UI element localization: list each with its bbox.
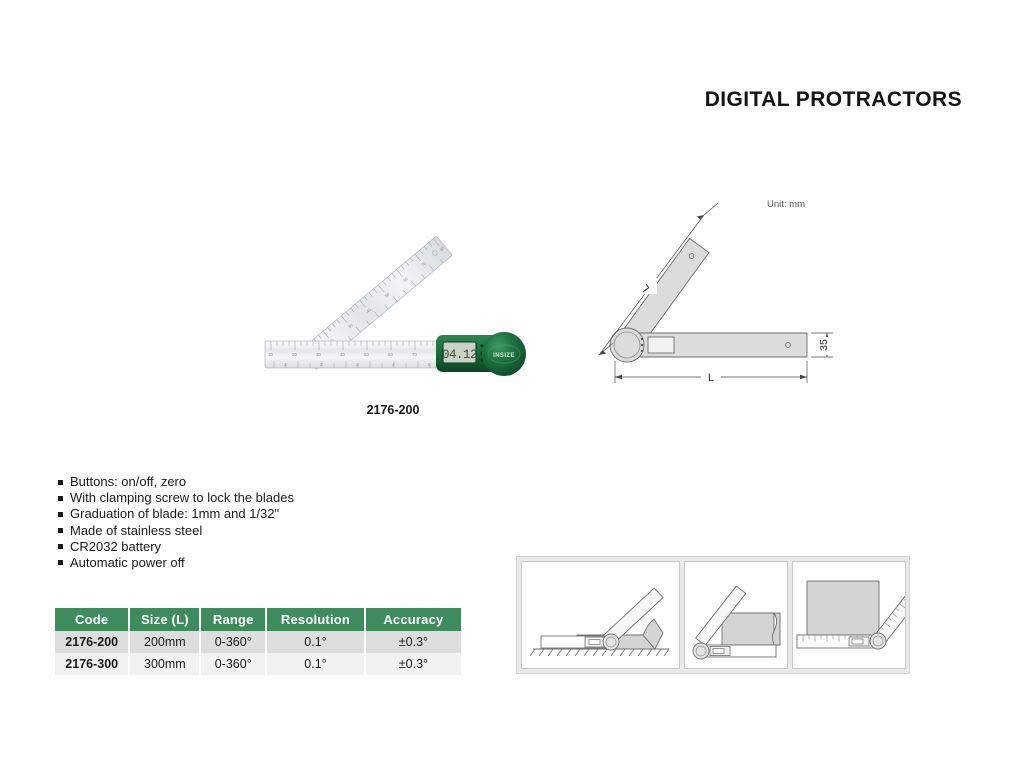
svg-text:20: 20 — [292, 352, 297, 357]
cell-accuracy: ±0.3° — [365, 653, 461, 675]
horizontal-blade: 102030 405060 7080 123 45 — [265, 341, 465, 368]
lcd-display-value: 04.12 — [442, 348, 477, 362]
cell-range: 0-360° — [200, 631, 266, 653]
table-row: 2176-300 300mm 0-360° 0.1° ±0.3° — [55, 653, 461, 675]
svg-text:10: 10 — [268, 352, 273, 357]
bullet-square-icon — [58, 528, 63, 533]
feature-item: Buttons: on/off, zero — [58, 474, 478, 490]
feature-item: Automatic power off — [58, 555, 478, 571]
column-header-range: Range — [200, 608, 266, 631]
feature-text: Made of stainless steel — [70, 523, 202, 539]
application-panel-3 — [792, 561, 906, 669]
svg-text:70: 70 — [412, 352, 417, 357]
cell-size: 200mm — [129, 631, 200, 653]
feature-item: CR2032 battery — [58, 539, 478, 555]
feature-text: Graduation of blade: 1mm and 1/32" — [70, 506, 279, 522]
bullet-square-icon — [58, 544, 63, 549]
table-row: 2176-200 200mm 0-360° 0.1° ±0.3° — [55, 631, 461, 653]
svg-text:50: 50 — [364, 352, 369, 357]
column-header-code: Code — [55, 608, 129, 631]
dimension-label-35: 35 — [818, 339, 830, 351]
svg-text:30: 30 — [316, 352, 321, 357]
bullet-square-icon — [58, 480, 63, 485]
cell-range: 0-360° — [200, 653, 266, 675]
specification-table: Code Size (L) Range Resolution Accuracy … — [55, 608, 461, 675]
clamping-knob: INSIZE — [482, 332, 526, 376]
application-illustrations — [516, 556, 910, 674]
dimension-label-L-horizontal: L — [708, 372, 714, 384]
cell-code: 2176-200 — [55, 631, 129, 653]
column-header-resolution: Resolution — [266, 608, 365, 631]
feature-text: Buttons: on/off, zero — [70, 474, 186, 490]
feature-list: Buttons: on/off, zero With clamping scre… — [58, 474, 478, 571]
cell-resolution: 0.1° — [266, 653, 365, 675]
bullet-square-icon — [58, 496, 63, 501]
column-header-accuracy: Accuracy — [365, 608, 461, 631]
unit-label: Unit: mm — [767, 199, 805, 210]
bullet-square-icon — [58, 560, 63, 565]
product-caption: 2176-200 — [258, 403, 528, 417]
page-title: DIGITAL PROTRACTORS — [705, 88, 962, 112]
brand-logo-text: INSIZE — [493, 353, 515, 359]
feature-item: Made of stainless steel — [58, 523, 478, 539]
application-panel-2 — [684, 561, 788, 669]
technical-drawing: L 35 L Unit: mm — [575, 185, 845, 400]
table-header-row: Code Size (L) Range Resolution Accuracy — [55, 608, 461, 631]
bullet-square-icon — [58, 512, 63, 517]
application-panel-1 — [521, 561, 680, 669]
feature-text: Automatic power off — [70, 555, 185, 571]
svg-text:40: 40 — [340, 352, 345, 357]
column-header-size: Size (L) — [129, 608, 200, 631]
feature-text: With clamping screw to lock the blades — [70, 490, 294, 506]
feature-text: CR2032 battery — [70, 539, 161, 555]
catalog-page: DIGITAL PROTRACTORS — [0, 0, 1024, 768]
product-photo: 102030 405060 7080 — [258, 195, 528, 395]
feature-item: Graduation of blade: 1mm and 1/32" — [58, 506, 478, 522]
cell-size: 300mm — [129, 653, 200, 675]
cell-resolution: 0.1° — [266, 631, 365, 653]
svg-text:60: 60 — [388, 352, 393, 357]
feature-item: With clamping screw to lock the blades — [58, 490, 478, 506]
cell-code: 2176-300 — [55, 653, 129, 675]
cell-accuracy: ±0.3° — [365, 631, 461, 653]
